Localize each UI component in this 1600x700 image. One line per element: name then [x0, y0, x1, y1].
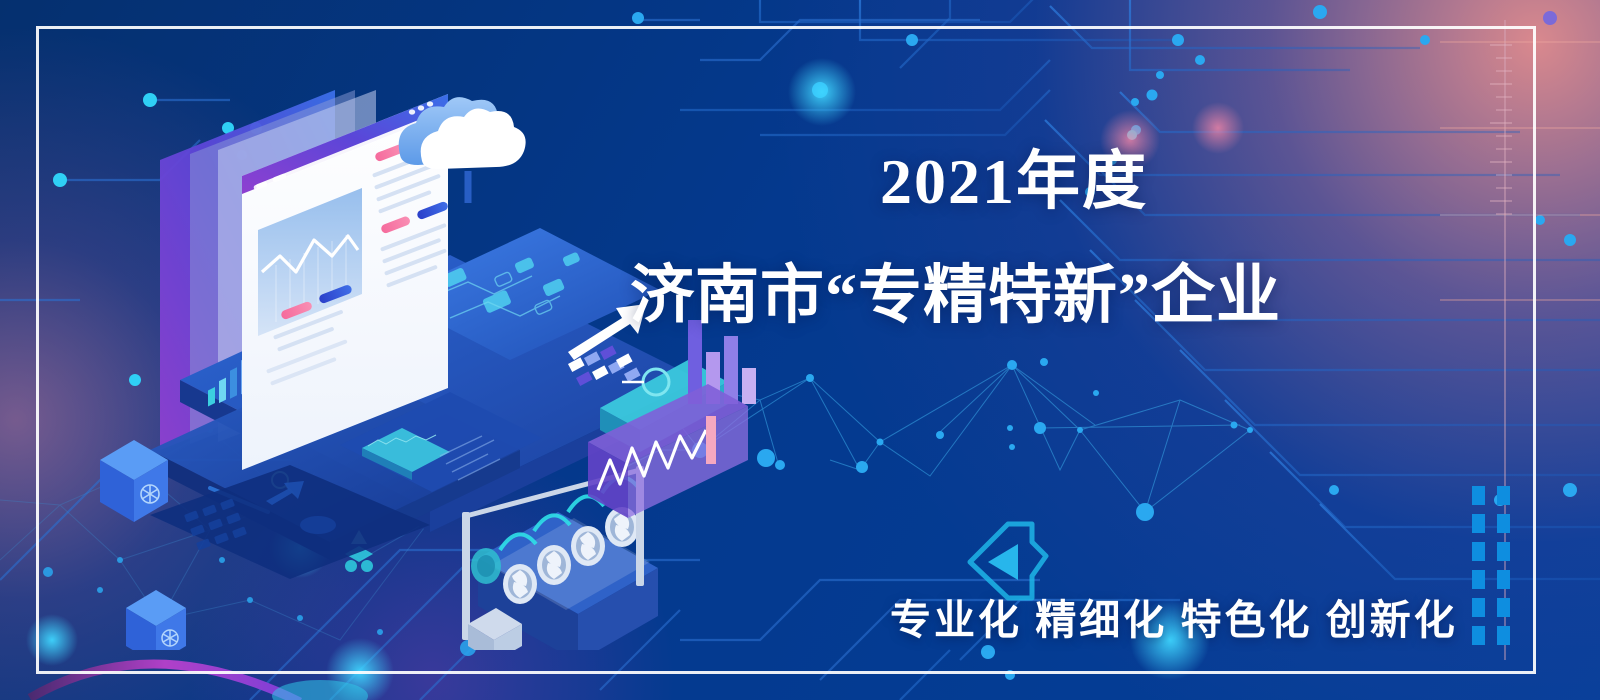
banner-title: 济南市“专精特新”企业	[630, 262, 1530, 329]
banner-frame-border	[36, 26, 1536, 674]
banner-root: 2021年度 济南市“专精特新”企业 专业化 精细化 特色化 创新化	[0, 0, 1600, 700]
banner-headline: 2021年度	[880, 150, 1520, 214]
banner-subtitle: 专业化 精细化 特色化 创新化	[890, 586, 1510, 646]
